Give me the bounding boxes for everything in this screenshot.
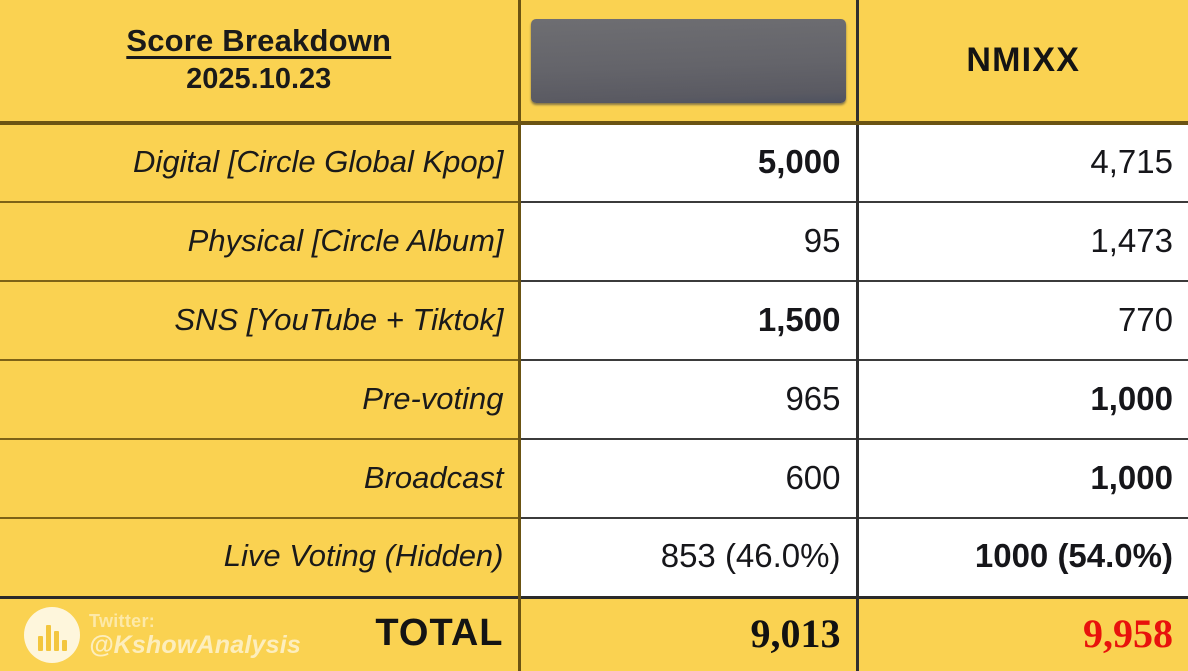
- table-row: Live Voting (Hidden) 853 (46.0%) 1000 (5…: [0, 518, 1188, 597]
- row-value-pre-voting-left: 965: [519, 360, 857, 439]
- row-label-digital: Digital [Circle Global Kpop]: [0, 123, 519, 202]
- row-value-live-voting-left: 853 (46.0%): [519, 518, 857, 597]
- table-total-row: TOTAL 9,013 9,958: [0, 597, 1188, 671]
- row-value-sns-right: 770: [857, 281, 1188, 360]
- row-label-sns: SNS [YouTube + Tiktok]: [0, 281, 519, 360]
- total-label-cell: TOTAL: [0, 597, 519, 671]
- table-row: Digital [Circle Global Kpop] 5,000 4,715: [0, 123, 1188, 202]
- row-label-physical: Physical [Circle Album]: [0, 202, 519, 281]
- row-label-live-voting: Live Voting (Hidden): [0, 518, 519, 597]
- header-title-cell: Score Breakdown 2025.10.23: [0, 0, 519, 123]
- header-redacted-cell: [519, 0, 857, 123]
- row-value-digital-left: 5,000: [519, 123, 857, 202]
- row-value-live-voting-right: 1000 (54.0%): [857, 518, 1188, 597]
- row-label-broadcast: Broadcast: [0, 439, 519, 518]
- header-date: 2025.10.23: [4, 60, 514, 99]
- table-row: Broadcast 600 1,000: [0, 439, 1188, 518]
- row-value-broadcast-right: 1,000: [857, 439, 1188, 518]
- score-breakdown-table: Score Breakdown 2025.10.23 NMIXX Digital…: [0, 0, 1188, 671]
- page-title: Score Breakdown: [4, 21, 514, 60]
- row-value-pre-voting-right: 1,000: [857, 360, 1188, 439]
- table-row: SNS [YouTube + Tiktok] 1,500 770: [0, 281, 1188, 360]
- header-artist-cell: NMIXX: [857, 0, 1188, 123]
- row-label-pre-voting: Pre-voting: [0, 360, 519, 439]
- table-row: Physical [Circle Album] 95 1,473: [0, 202, 1188, 281]
- redacted-artist-logo: [531, 19, 846, 103]
- row-value-sns-left: 1,500: [519, 281, 857, 360]
- score-breakdown-card: Score Breakdown 2025.10.23 NMIXX Digital…: [0, 0, 1188, 669]
- row-value-digital-right: 4,715: [857, 123, 1188, 202]
- total-value-left: 9,013: [519, 597, 857, 671]
- table-row: Pre-voting 965 1,000: [0, 360, 1188, 439]
- row-value-physical-left: 95: [519, 202, 857, 281]
- artist-name-label: NMIXX: [966, 41, 1080, 79]
- row-value-broadcast-left: 600: [519, 439, 857, 518]
- total-label: TOTAL: [375, 612, 503, 654]
- row-value-physical-right: 1,473: [857, 202, 1188, 281]
- table-header-row: Score Breakdown 2025.10.23 NMIXX: [0, 0, 1188, 123]
- total-value-right: 9,958: [857, 597, 1188, 671]
